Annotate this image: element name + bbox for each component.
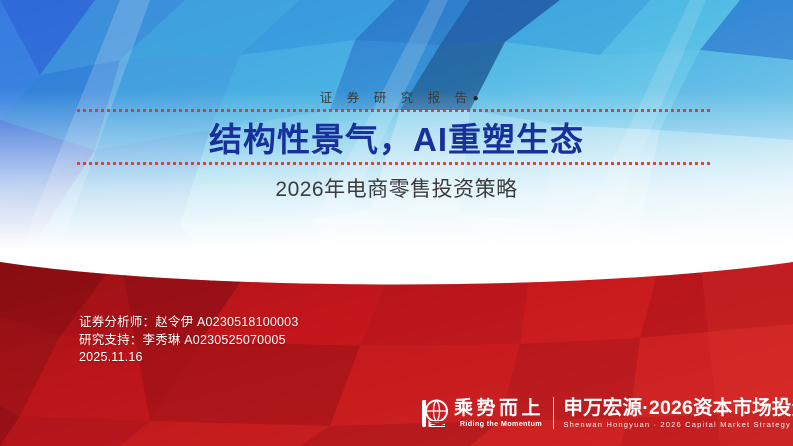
analyst-support: 研究支持：李秀琳 A0230525070005 [79,332,299,350]
conference-name-en: Shenwan Hongyuan · 2026 Capital Market S… [563,419,793,430]
bullet-icon: ● [473,93,479,104]
page-title: 结构性景气，AI重塑生态 [0,122,793,158]
slogan-cn: 乘势而上 [454,398,544,419]
report-kicker-label: 证 券 研 究 报 告 [320,91,473,105]
shenwan-hongyuan-globe-sail-icon [420,398,448,428]
page-subtitle: 2026年电商零售投资策略 [0,177,793,203]
divider-dotted-bottom [77,162,713,165]
analyst-primary: 证券分析师：赵令伊 A0230518100003 [79,314,299,332]
report-cover-slide: 证 券 研 究 报 告● 结构性景气，AI重塑生态 2026年电商零售投资策略 [0,0,793,446]
slogan-en: Riding the Momentum [454,419,544,429]
conference-slogan: 乘势而上 Riding the Momentum [454,398,553,429]
divider-dotted-top [77,109,713,112]
conference-logo-lockup: 乘势而上 Riding the Momentum 申万宏源·2026资本市场投资… [420,392,793,434]
logo-divider [553,397,554,429]
conference-name-cn: 申万宏源·2026资本市场投资年会 [563,397,793,419]
report-kicker: 证 券 研 究 报 告● [0,87,793,106]
analyst-info-block: 证券分析师：赵令伊 A0230518100003 研究支持：李秀琳 A02305… [79,314,299,367]
conference-name: 申万宏源·2026资本市场投资年会 Shenwan Hongyuan · 202… [563,397,793,430]
report-date: 2025.11.16 [79,349,299,367]
